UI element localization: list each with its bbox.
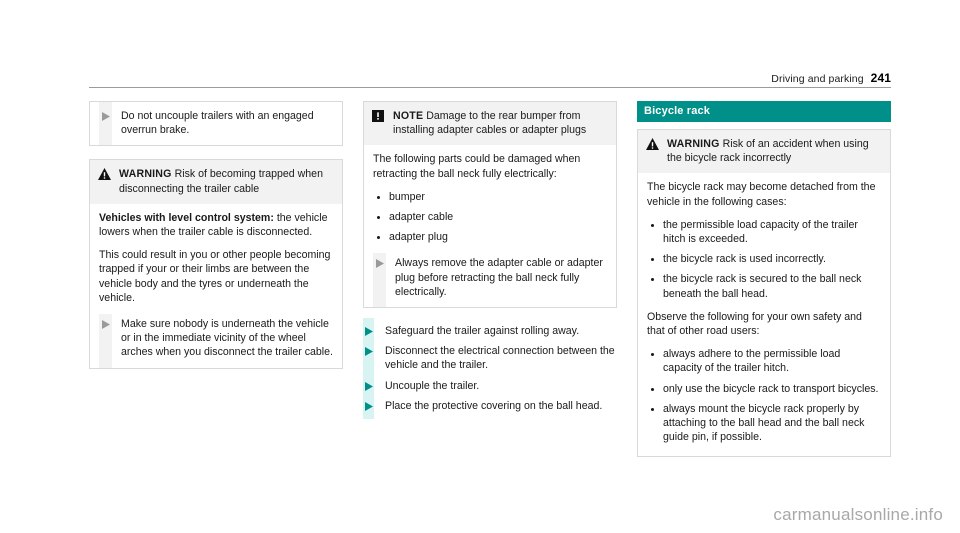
arrow-right-triangle-icon (373, 256, 386, 268)
warning-keyword: WARNING (119, 168, 172, 180)
page-running-header: Driving and parking 241 (89, 68, 891, 88)
warning-header: WARNING Risk of an accident when using t… (638, 130, 890, 173)
step-item: Place the protective covering on the bal… (363, 399, 617, 413)
section-title-bicycle-rack: Bicycle rack (637, 101, 891, 122)
arrow-right-triangle-icon (99, 109, 112, 121)
warning-keyword: WARNING (667, 138, 720, 150)
header-page-number: 241 (871, 71, 891, 85)
warning-paragraph: This could result in you or other people… (99, 248, 333, 305)
step-item: Uncouple the trailer. (363, 379, 617, 393)
note-intro: The following parts could be damaged whe… (373, 152, 607, 180)
step-item-label: Place the protective covering on the bal… (374, 399, 602, 413)
warning-header: WARNING Risk of becoming trapped when di… (90, 160, 342, 203)
warning-body: Vehicles with level control system: the … (90, 204, 342, 314)
action-item-label: Make sure nobody is underneath the vehic… (112, 317, 334, 360)
action-item-label: Always remove the adapter cable or adapt… (386, 256, 608, 299)
list-item: always adhere to the permissible load ca… (647, 347, 881, 375)
action-item-label: Do not uncouple trailers with an engaged… (112, 109, 334, 137)
list-item: adapter cable (373, 210, 607, 224)
warning-headline: WARNING Risk of an accident when using t… (663, 137, 881, 165)
teal-arrow-right-icon (363, 344, 374, 356)
warning-intro-2: Observe the following for your own safet… (647, 310, 881, 338)
left-action-list: Do not uncouple trailers with an engaged… (90, 102, 342, 145)
list-item: bumper (373, 190, 607, 204)
spacer (637, 122, 891, 129)
warning-bullet-list-2: always adhere to the permissible load ca… (647, 347, 881, 444)
step-item: Safeguard the trailer against rolling aw… (363, 324, 617, 338)
note-bullet-list: bumper adapter cable adapter plug (373, 190, 607, 245)
header-chapter-title: Driving and parking (771, 73, 863, 85)
step-item-label: Safeguard the trailer against rolling aw… (374, 324, 579, 338)
list-item: only use the bicycle rack to transport b… (647, 382, 881, 396)
teal-arrow-right-icon (363, 399, 374, 411)
action-item: Do not uncouple trailers with an engaged… (90, 109, 334, 137)
warning-headline: WARNING Risk of becoming trapped when di… (115, 167, 333, 195)
spacer (363, 308, 617, 318)
teal-arrow-right-icon (363, 379, 374, 391)
step-item-label: Uncouple the trailer. (374, 379, 479, 393)
warning-paragraph: Vehicles with level control system: the … (99, 211, 333, 239)
column-right: Bicycle rack WARNING Risk of an accident… (637, 101, 891, 457)
warning-intro-1: The bicycle rack may become detached fro… (647, 180, 881, 208)
right-warning-box: WARNING Risk of an accident when using t… (637, 129, 891, 457)
site-watermark: carmanualsonline.info (773, 505, 943, 525)
list-item: the bicycle rack is secured to the ball … (647, 272, 881, 300)
action-item: Always remove the adapter cable or adapt… (364, 256, 608, 299)
action-item: Make sure nobody is underneath the vehic… (90, 317, 334, 360)
step-item-label: Disconnect the electrical connection bet… (374, 344, 617, 372)
warning-paragraph-lead: Vehicles with level control system: (99, 212, 274, 224)
list-item: the bicycle rack is used incorrectly. (647, 252, 881, 266)
middle-note-action-list: Always remove the adapter cable or adapt… (364, 253, 616, 307)
list-item: always mount the bicycle rack properly b… (647, 402, 881, 445)
note-headline: NOTE Damage to the rear bumper from inst… (389, 109, 607, 137)
note-keyword: NOTE (393, 110, 423, 122)
left-warning-box: WARNING Risk of becoming trapped when di… (89, 159, 343, 368)
note-exclamation-icon (372, 109, 389, 122)
middle-note-box: NOTE Damage to the rear bumper from inst… (363, 101, 617, 308)
list-item: adapter plug (373, 230, 607, 244)
middle-step-list: Safeguard the trailer against rolling aw… (363, 318, 617, 419)
warning-triangle-icon (98, 167, 115, 180)
column-left: Do not uncouple trailers with an engaged… (89, 101, 343, 369)
teal-arrow-right-icon (363, 324, 374, 336)
warning-body: The bicycle rack may become detached fro… (638, 173, 890, 456)
arrow-right-triangle-icon (99, 317, 112, 329)
warning-bullet-list-1: the permissible load capacity of the tra… (647, 218, 881, 301)
left-warning-action-list: Make sure nobody is underneath the vehic… (90, 314, 342, 368)
step-item: Disconnect the electrical connection bet… (363, 344, 617, 372)
note-body: The following parts could be damaged whe… (364, 145, 616, 253)
column-middle: NOTE Damage to the rear bumper from inst… (363, 101, 617, 419)
note-header: NOTE Damage to the rear bumper from inst… (364, 102, 616, 145)
spacer (89, 146, 343, 159)
list-item: the permissible load capacity of the tra… (647, 218, 881, 246)
warning-triangle-icon (646, 137, 663, 150)
left-action-box: Do not uncouple trailers with an engaged… (89, 101, 343, 146)
